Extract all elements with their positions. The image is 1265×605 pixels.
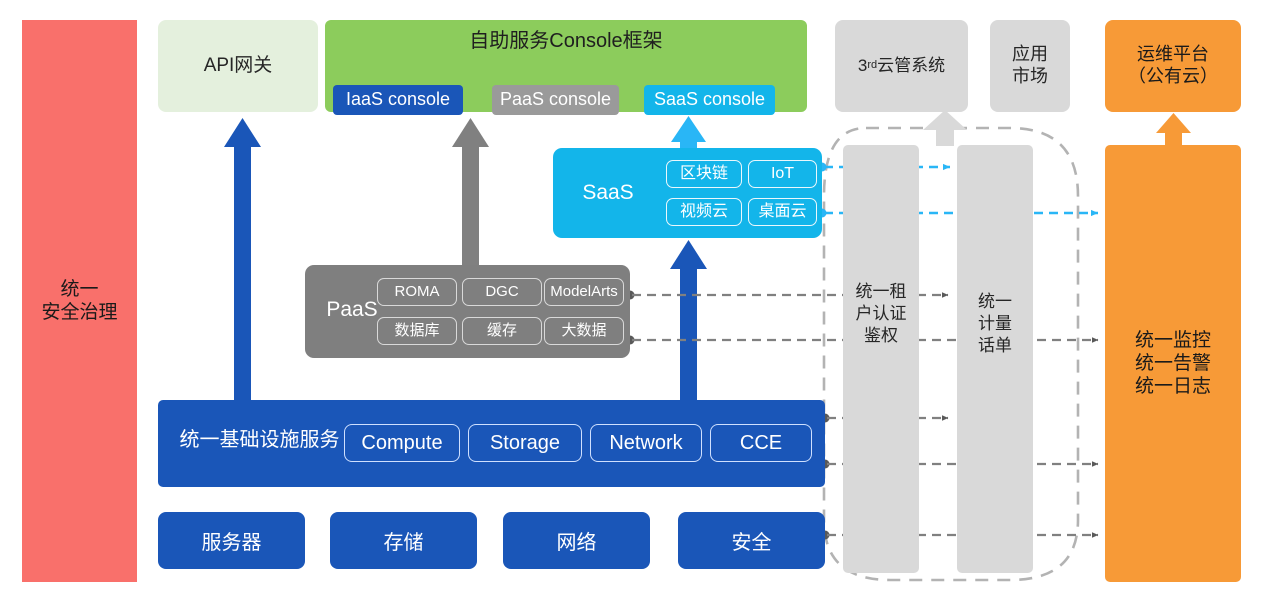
unified-infrastructure-bar: 统一基础设施服务 Compute Storage Network CCE: [158, 400, 825, 487]
infra-item-compute[interactable]: Compute: [344, 424, 460, 462]
paas-item-roma[interactable]: ROMA: [377, 278, 457, 306]
architecture-diagram: 统一 安全治理 API网关 自助服务Console框架 IaaS console…: [0, 0, 1265, 605]
paas-item-modelarts[interactable]: ModelArts: [544, 278, 624, 306]
saas-item-blockchain[interactable]: 区块链: [666, 160, 742, 188]
paas-item-database[interactable]: 数据库: [377, 317, 457, 345]
saas-block: SaaS 区块链 IoT 视频云 桌面云: [553, 148, 822, 238]
third-cloud-prefix: 3: [858, 56, 867, 77]
ops-platform-box[interactable]: 运维平台 （公有云）: [1105, 20, 1241, 112]
infra-item-network[interactable]: Network: [590, 424, 702, 462]
resource-box-security[interactable]: 安全: [678, 512, 825, 569]
arrow-opsbar-to-opsplatform: [1156, 113, 1191, 147]
api-gateway-box[interactable]: API网关: [158, 20, 318, 112]
console-frame-title: 自助服务Console框架: [325, 29, 807, 53]
paas-block: PaaS ROMA DGC ModelArts 数据库 缓存 大数据: [305, 265, 630, 358]
infra-item-storage[interactable]: Storage: [468, 424, 582, 462]
arrow-infra-to-saas: [670, 240, 707, 402]
resource-box-storage[interactable]: 存储: [330, 512, 477, 569]
unified-monitoring-bar: 统一监控 统一告警 统一日志: [1105, 145, 1241, 582]
infra-bar-label: 统一基础设施服务: [172, 428, 347, 452]
self-service-console-frame: 自助服务Console框架 IaaS console PaaS console …: [325, 20, 807, 112]
saas-console-chip[interactable]: SaaS console: [644, 85, 775, 115]
third-cloud-suffix: 云管系统: [877, 56, 945, 77]
infra-item-cce[interactable]: CCE: [710, 424, 812, 462]
saas-item-desktop-cloud[interactable]: 桌面云: [748, 198, 817, 226]
arrow-paas-to-console: [452, 118, 489, 268]
unified-metering-column: 统一 计量 话单: [957, 145, 1033, 573]
arrow-saas-to-console: [671, 116, 706, 150]
app-market-box[interactable]: 应用 市场: [990, 20, 1070, 112]
paas-item-dgc[interactable]: DGC: [462, 278, 542, 306]
unified-tenant-auth-label: 统一租 户认证 鉴权: [856, 281, 907, 573]
unified-metering-label: 统一 计量 话单: [978, 291, 1012, 573]
paas-console-chip[interactable]: PaaS console: [492, 85, 619, 115]
saas-item-video-cloud[interactable]: 视频云: [666, 198, 742, 226]
third-party-cloud-mgmt-box[interactable]: 3rd云管系统: [835, 20, 968, 112]
unified-tenant-auth-column: 统一租 户认证 鉴权: [843, 145, 919, 573]
saas-block-label: SaaS: [565, 180, 651, 206]
arrow-auth-to-thirdcloud: [923, 110, 967, 146]
third-cloud-superscript: rd: [867, 59, 877, 72]
security-governance-panel: 统一 安全治理: [22, 20, 137, 582]
resource-box-server[interactable]: 服务器: [158, 512, 305, 569]
paas-item-bigdata[interactable]: 大数据: [544, 317, 624, 345]
saas-item-iot[interactable]: IoT: [748, 160, 817, 188]
arrow-infra-to-api: [224, 118, 261, 402]
paas-item-cache[interactable]: 缓存: [462, 317, 542, 345]
resource-box-network[interactable]: 网络: [503, 512, 650, 569]
iaas-console-chip[interactable]: IaaS console: [333, 85, 463, 115]
